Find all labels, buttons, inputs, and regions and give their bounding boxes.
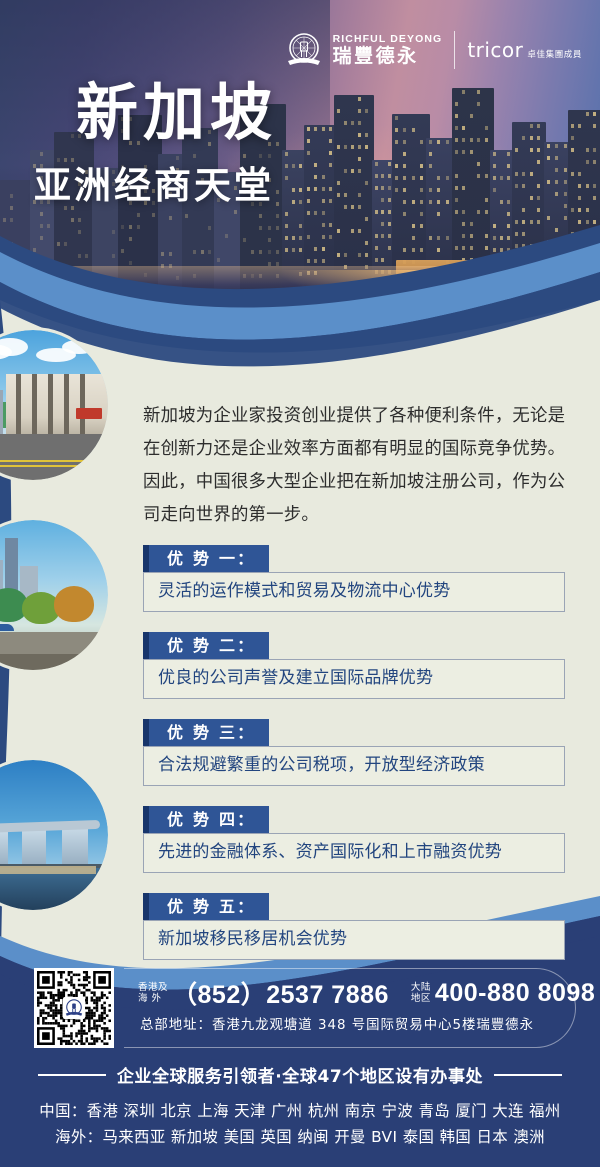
hero-water-reflection <box>276 270 552 300</box>
advantage-label: 优 势 二： <box>143 632 269 660</box>
hk-phone-number[interactable]: （852）2537 7886 <box>172 975 389 1011</box>
partner-logo: tricor 卓佳集團成員 <box>467 38 582 62</box>
advantage-text: 先进的金融体系、资产国际化和上市融资优势 <box>143 833 565 873</box>
poster-root: RICHFUL DEYONG 瑞豐德永 tricor 卓佳集團成員 新加坡 亚洲… <box>0 0 600 1167</box>
tagline-rule-right <box>494 1074 562 1076</box>
tagline-row: 企业全球服务引领者·全球47个地区设有办事处 <box>0 1062 600 1087</box>
hk-phone-label: 香港及 海 外 <box>138 982 168 1004</box>
advantage-label: 优 势 五： <box>143 893 269 921</box>
partner-name: tricor <box>467 38 523 62</box>
page-title: 新加坡 <box>76 82 277 144</box>
page-subtitle: 亚洲经商天堂 <box>34 167 274 204</box>
advantage-label: 优 势 四： <box>143 806 269 834</box>
regions-china: 中国：香港 深圳 北京 上海 天津 广州 杭州 南京 宁波 青岛 厦门 大连 福… <box>0 1098 600 1124</box>
contact-block: 香港及 海 外 （852）2537 7886 大陆 地区 400-880 809… <box>34 968 576 1048</box>
advantage-text: 合法规避繁重的公司税项，开放型经济政策 <box>143 746 565 786</box>
advantage-item: 优 势 三： 合法规避繁重的公司税项，开放型经济政策 <box>143 719 565 786</box>
advantage-text: 新加坡移民移居机会优势 <box>143 920 565 960</box>
advantage-item: 优 势 四： 先进的金融体系、资产国际化和上市融资优势 <box>143 806 565 873</box>
logo-english-name: RICHFUL DEYONG <box>333 34 443 45</box>
advantage-label: 优 势 一： <box>143 545 269 573</box>
advantages-list: 优 势 一： 灵活的运作模式和贸易及物流中心优势 优 势 二： 优良的公司声誉及… <box>143 545 565 980</box>
regions-list: 中国：香港 深圳 北京 上海 天津 广州 杭州 南京 宁波 青岛 厦门 大连 福… <box>0 1098 600 1150</box>
qr-center-logo-icon <box>63 997 85 1019</box>
advantage-item: 优 势 五： 新加坡移民移居机会优势 <box>143 893 565 960</box>
cn-label-line2: 地区 <box>411 993 431 1004</box>
advantage-text: 优良的公司声誉及建立国际品牌优势 <box>143 659 565 699</box>
partner-subtitle: 卓佳集團成員 <box>527 48 582 62</box>
cn-phone-number[interactable]: 400-880 8098 <box>435 979 595 1008</box>
regions-overseas: 海外：马来西亚 新加坡 美国 英国 纳闽 开曼 BVI 泰国 韩国 日本 澳洲 <box>0 1124 600 1150</box>
contact-details: 香港及 海 外 （852）2537 7886 大陆 地区 400-880 809… <box>124 968 576 1048</box>
cn-label-line1: 大陆 <box>411 982 431 993</box>
tagline-text: 企业全球服务引领者·全球47个地区设有办事处 <box>117 1062 483 1087</box>
logo-wordmark: RICHFUL DEYONG 瑞豐德永 <box>333 34 443 67</box>
logo-divider <box>454 31 455 69</box>
intro-paragraph: 新加坡为企业家投资创业提供了各种便利条件，无论是在创新力还是企业效率方面都有明显… <box>143 400 573 532</box>
phone-row: 香港及 海 外 （852）2537 7886 大陆 地区 400-880 809… <box>138 973 557 1013</box>
logo-chinese-name: 瑞豐德永 <box>333 47 443 66</box>
hk-label-line2: 海 外 <box>138 993 162 1004</box>
cn-phone-label: 大陆 地区 <box>411 982 431 1004</box>
advantage-item: 优 势 二： 优良的公司声誉及建立国际品牌优势 <box>143 632 565 699</box>
advantage-item: 优 势 一： 灵活的运作模式和贸易及物流中心优势 <box>143 545 565 612</box>
shield-crest-icon <box>284 30 324 70</box>
head-office-address: 总部地址：香港九龙观塘道 348 号国际贸易中心5楼瑞豐德永 <box>138 1013 557 1033</box>
advantage-label: 优 势 三： <box>143 719 269 747</box>
qr-code-icon[interactable] <box>34 968 114 1048</box>
hk-label-line1: 香港及 <box>138 982 168 993</box>
advantage-text: 灵活的运作模式和贸易及物流中心优势 <box>143 572 565 612</box>
company-logo: RICHFUL DEYONG 瑞豐德永 tricor 卓佳集團成員 <box>284 30 582 70</box>
tagline-rule-left <box>38 1074 106 1076</box>
